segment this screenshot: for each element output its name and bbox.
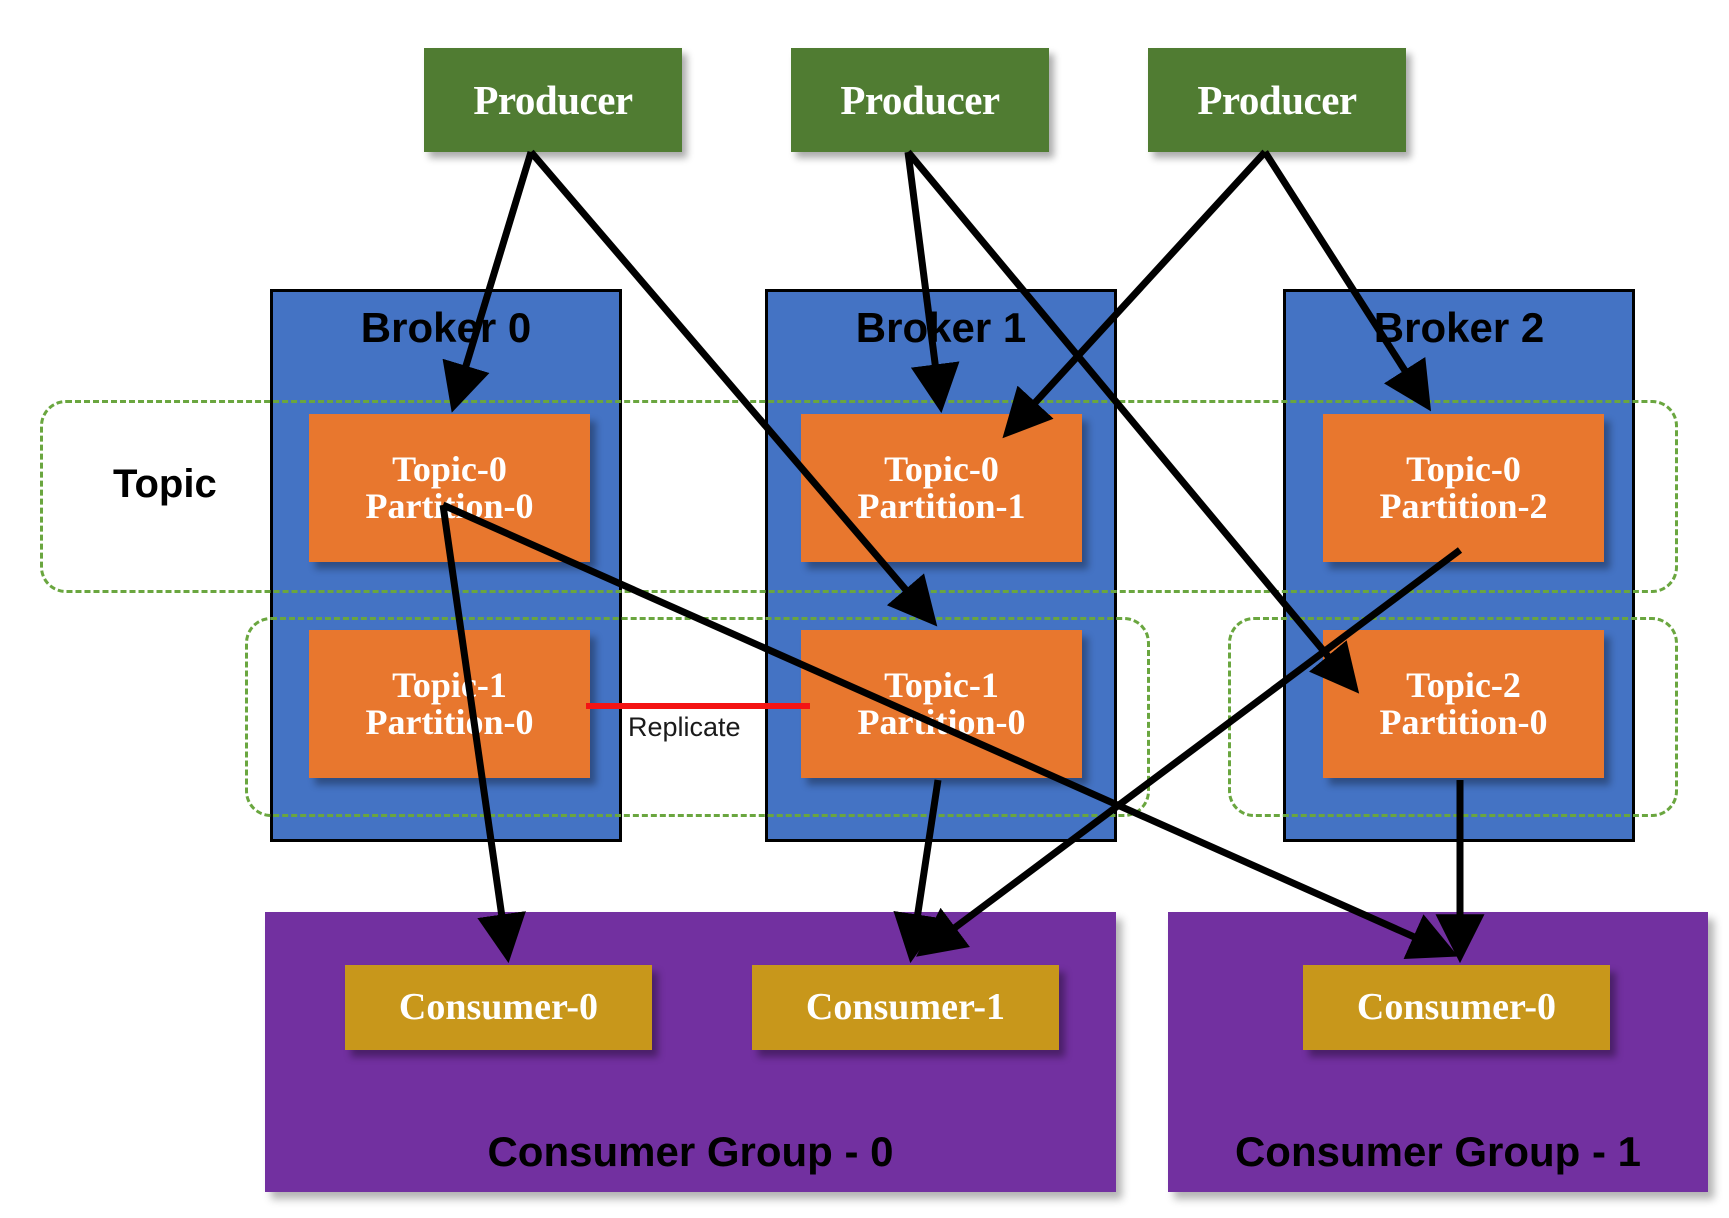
producer-label: Producer [840, 79, 999, 122]
consumer-0-group-0[interactable]: Consumer-0 [345, 965, 652, 1050]
partition-topic1-partition0-broker0[interactable]: Topic-1 Partition-0 [309, 630, 590, 778]
consumer-label: Consumer-1 [806, 988, 1005, 1028]
kafka-architecture-diagram: Producer Producer Producer Broker 0 Brok… [0, 0, 1729, 1218]
partition-topic2-partition0[interactable]: Topic-2 Partition-0 [1323, 630, 1604, 778]
producer-box-0[interactable]: Producer [424, 48, 682, 152]
partition-topic-name: Topic-2 [1406, 667, 1521, 704]
partition-index-name: Partition-0 [366, 488, 534, 525]
partition-topic1-partition0-broker1[interactable]: Topic-1 Partition-0 [801, 630, 1082, 778]
consumer-label: Consumer-0 [1357, 988, 1556, 1028]
partition-index-name: Partition-1 [858, 488, 1026, 525]
replicate-label: Replicate [628, 712, 741, 743]
replicate-line [586, 703, 810, 709]
partition-index-name: Partition-2 [1380, 488, 1548, 525]
consumer-0-group-1[interactable]: Consumer-0 [1303, 965, 1610, 1050]
consumer-group-label: Consumer Group - 0 [487, 1130, 893, 1174]
partition-topic-name: Topic-0 [392, 451, 507, 488]
producer-label: Producer [473, 79, 632, 122]
partition-topic-name: Topic-0 [1406, 451, 1521, 488]
partition-topic-name: Topic-1 [884, 667, 999, 704]
partition-index-name: Partition-0 [858, 704, 1026, 741]
broker-label: Broker 0 [361, 306, 531, 350]
partition-topic-name: Topic-1 [392, 667, 507, 704]
consumer-label: Consumer-0 [399, 988, 598, 1028]
consumer-group-1[interactable]: Consumer Group - 1 [1168, 912, 1708, 1192]
partition-topic0-partition2[interactable]: Topic-0 Partition-2 [1323, 414, 1604, 562]
producer-label: Producer [1197, 79, 1356, 122]
partition-index-name: Partition-0 [366, 704, 534, 741]
consumer-1-group-0[interactable]: Consumer-1 [752, 965, 1059, 1050]
producer-box-1[interactable]: Producer [791, 48, 1049, 152]
producer-box-2[interactable]: Producer [1148, 48, 1406, 152]
partition-topic0-partition0[interactable]: Topic-0 Partition-0 [309, 414, 590, 562]
broker-label: Broker 1 [856, 306, 1026, 350]
partition-topic0-partition1[interactable]: Topic-0 Partition-1 [801, 414, 1082, 562]
partition-topic-name: Topic-0 [884, 451, 999, 488]
consumer-group-0[interactable]: Consumer Group - 0 [265, 912, 1116, 1192]
topic-group-label: Topic [113, 462, 217, 507]
partition-index-name: Partition-0 [1380, 704, 1548, 741]
broker-label: Broker 2 [1374, 306, 1544, 350]
consumer-group-label: Consumer Group - 1 [1235, 1130, 1641, 1174]
